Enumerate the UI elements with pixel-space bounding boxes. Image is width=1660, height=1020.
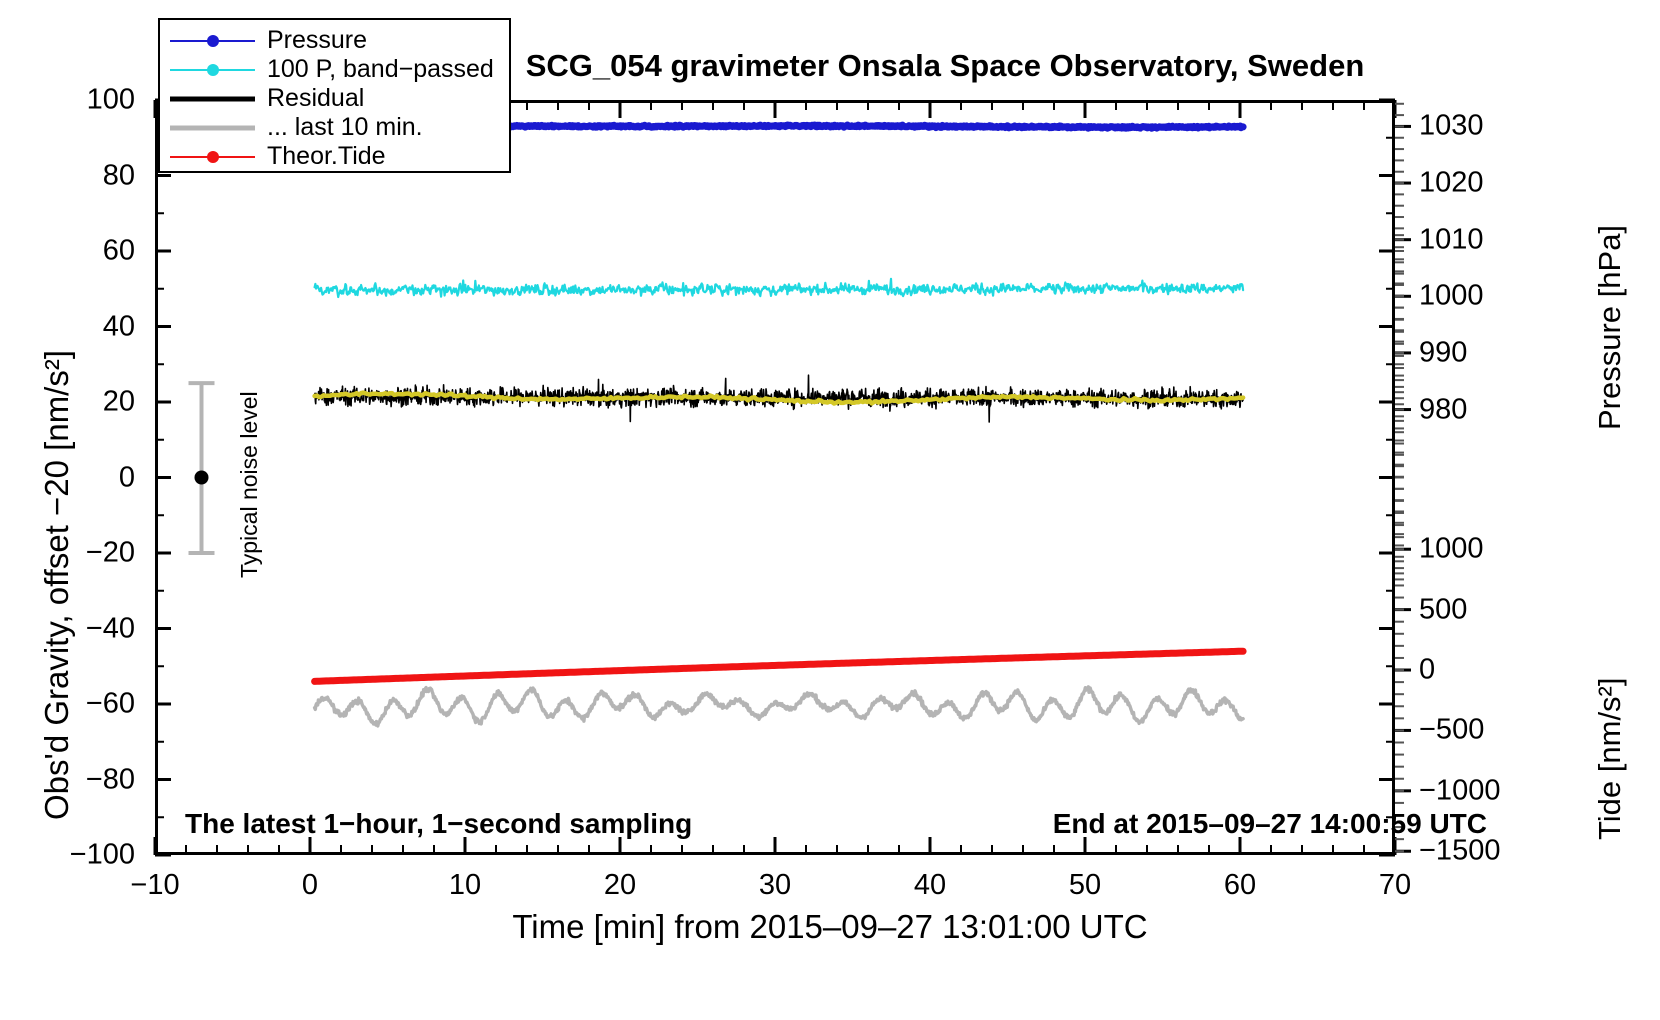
y-tick-left-1: 80	[0, 159, 135, 192]
legend-swatch-icon	[170, 89, 255, 109]
y-axis-title-pressure: Pressure [hPa]	[1592, 225, 1628, 430]
legend-swatch-icon	[170, 31, 255, 51]
pressure-tick-0: 1030	[1419, 110, 1484, 143]
x-tick-8: 70	[1379, 869, 1411, 902]
legend-item-2[interactable]: Residual	[160, 84, 509, 113]
tide-tick-1: 500	[1419, 593, 1467, 626]
legend-item-0[interactable]: Pressure	[160, 26, 509, 55]
x-tick-2: 10	[449, 869, 481, 902]
legend-label: Pressure	[267, 28, 367, 53]
tide-tick-4: −1000	[1419, 774, 1500, 807]
legend-marker-dot	[207, 35, 219, 47]
chart-title: SCG_054 gravimeter Onsala Space Observat…	[526, 48, 1365, 84]
y-tick-left-10: −100	[0, 839, 135, 872]
pressure-tick-2: 1010	[1419, 223, 1484, 256]
x-tick-4: 30	[759, 869, 791, 902]
x-tick-0: −10	[130, 869, 179, 902]
x-axis-title: Time [min] from 2015–09–27 13:01:00 UTC	[512, 908, 1147, 946]
note-end-time: End at 2015–09–27 14:00:59 UTC	[1053, 808, 1487, 840]
legend-item-3[interactable]: ... last 10 min.	[160, 113, 509, 142]
pressure-tick-4: 990	[1419, 336, 1467, 369]
tide-tick-3: −500	[1419, 714, 1484, 747]
legend-marker-dot	[207, 151, 219, 163]
legend-label: Residual	[267, 86, 364, 111]
x-tick-3: 20	[604, 869, 636, 902]
legend-label: 100 P, band−passed	[267, 57, 494, 82]
y-axis-title-left: Obs'd Gravity, offset −20 [nm/s²]	[38, 350, 76, 820]
y-tick-left-2: 60	[0, 235, 135, 268]
y-axis-title-tide: Tide [nm/s²]	[1592, 678, 1628, 841]
tide-tick-2: 0	[1419, 654, 1435, 687]
legend-swatch-icon	[170, 60, 255, 80]
note-sampling: The latest 1−hour, 1−second sampling	[185, 808, 692, 840]
pressure-tick-1: 1020	[1419, 167, 1484, 200]
legend-label: Theor.Tide	[267, 144, 386, 169]
noise-level-label: Typical noise level	[236, 391, 263, 578]
legend-swatch-icon	[170, 118, 255, 138]
legend: Pressure100 P, band−passedResidual... la…	[158, 18, 511, 173]
x-tick-7: 60	[1224, 869, 1256, 902]
x-tick-6: 50	[1069, 869, 1101, 902]
legend-marker-dot	[207, 64, 219, 76]
legend-item-4[interactable]: Theor.Tide	[160, 142, 509, 171]
plot-area	[155, 100, 1395, 855]
tide-tick-0: 1000	[1419, 533, 1484, 566]
y-tick-left-3: 40	[0, 310, 135, 343]
x-tick-1: 0	[302, 869, 318, 902]
x-tick-5: 40	[914, 869, 946, 902]
pressure-tick-3: 1000	[1419, 280, 1484, 313]
legend-item-1[interactable]: 100 P, band−passed	[160, 55, 509, 84]
pressure-tick-5: 980	[1419, 393, 1467, 426]
legend-swatch-icon	[170, 147, 255, 167]
chart-canvas: SCG_054 gravimeter Onsala Space Observat…	[0, 0, 1660, 1020]
legend-label: ... last 10 min.	[267, 115, 423, 140]
y-tick-left-0: 100	[0, 84, 135, 117]
